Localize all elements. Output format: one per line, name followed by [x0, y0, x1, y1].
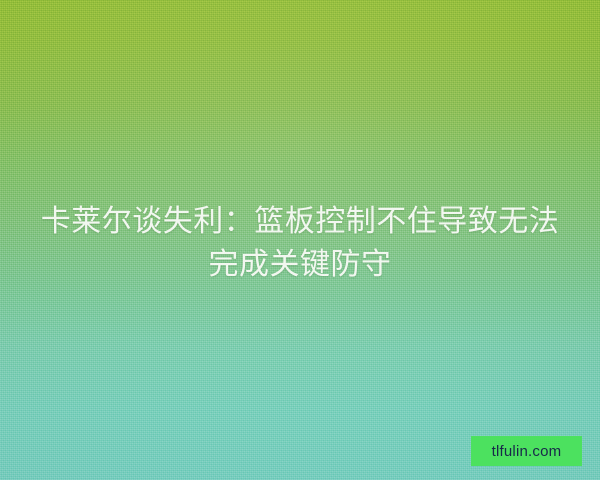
- article-title: 卡莱尔谈失利：篮板控制不住导致无法完成关键防守: [30, 200, 570, 286]
- title-container: 卡莱尔谈失利：篮板控制不住导致无法完成关键防守: [30, 200, 570, 286]
- cover-image-canvas: 卡莱尔谈失利：篮板控制不住导致无法完成关键防守 tlfulin.com: [0, 0, 600, 480]
- watermark-label: tlfulin.com: [492, 444, 562, 459]
- watermark-badge: tlfulin.com: [471, 436, 582, 466]
